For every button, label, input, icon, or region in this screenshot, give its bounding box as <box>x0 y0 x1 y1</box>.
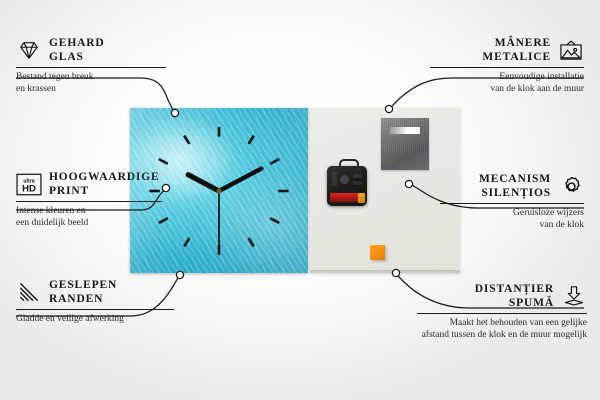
panel-floor-line <box>310 270 460 273</box>
callout-divider <box>417 313 587 314</box>
callout-head: MÂNERE METALICE <box>430 36 584 64</box>
callout-divider <box>430 67 584 68</box>
metal-hanger-swatch <box>381 118 429 170</box>
callout-title: DISTANȚIER SPUMĂ <box>475 282 554 310</box>
callout-divider <box>440 203 584 204</box>
mechanism-shaft <box>340 175 349 184</box>
callout-geslepen-randen: GESLEPEN RANDEN Gladde en veilige afwerk… <box>16 278 174 325</box>
callout-divider <box>16 309 174 310</box>
diamond-icon <box>16 38 42 62</box>
mechanism-vent <box>353 174 362 178</box>
callout-description: Maakt het behouden van een gelijke afsta… <box>417 317 587 341</box>
callout-divider <box>16 67 166 68</box>
mechanism-vent <box>332 172 337 186</box>
callout-gehard-glas: GEHARD GLAS Bestand tegen breuk en krass… <box>16 36 166 95</box>
callout-head: MECANISM SILENȚIOS <box>440 172 584 200</box>
gear-icon <box>558 174 584 198</box>
metal-hanger-strip <box>390 127 420 134</box>
callout-title: GEHARD GLAS <box>49 36 105 64</box>
callout-title: GESLEPEN RANDEN <box>49 278 117 306</box>
ultra-hd-icon: ultra HD <box>16 172 42 196</box>
callout-description: Eenvoudige installatie van de klok aan d… <box>430 71 584 95</box>
mechanism-vent <box>353 181 362 185</box>
picture-frame-icon <box>558 38 584 62</box>
callout-head: GEHARD GLAS <box>16 36 166 64</box>
battery-plus-terminal <box>358 193 365 203</box>
callout-title: MÂNERE METALICE <box>482 36 551 64</box>
product-stage <box>130 108 460 273</box>
clock-mechanism <box>327 166 367 206</box>
bevelled-edge-icon <box>16 280 42 304</box>
callout-description: Geruisloze wijzers van de klok <box>440 207 584 231</box>
callout-head: DISTANȚIER SPUMĂ <box>417 282 587 310</box>
clock-back-panel <box>310 108 460 273</box>
foam-spacer-sample <box>370 245 385 260</box>
product-infographic: GEHARD GLAS Bestand tegen breuk en krass… <box>0 0 600 400</box>
clock-front-panel <box>130 108 308 273</box>
callout-distantier-spuma: DISTANȚIER SPUMĂ Maakt het behouden van … <box>417 282 587 341</box>
mechanism-hanger-icon <box>339 159 359 171</box>
callout-manere-metalice: MÂNERE METALICE Eenvoudige installatie v… <box>430 36 584 95</box>
callout-head: GESLEPEN RANDEN <box>16 278 174 306</box>
callout-mecanism-silentios: MECANISM SILENȚIOS Geruisloze wijzers va… <box>440 172 584 231</box>
callout-description: Bestand tegen breuk en krassen <box>16 71 166 95</box>
callout-description: Gladde en veilige afwerking <box>16 313 174 325</box>
callout-title: MECANISM SILENȚIOS <box>479 172 551 200</box>
spacer-arrow-icon <box>561 284 587 308</box>
clock-dial <box>130 108 308 273</box>
svg-text:HD: HD <box>22 183 36 194</box>
